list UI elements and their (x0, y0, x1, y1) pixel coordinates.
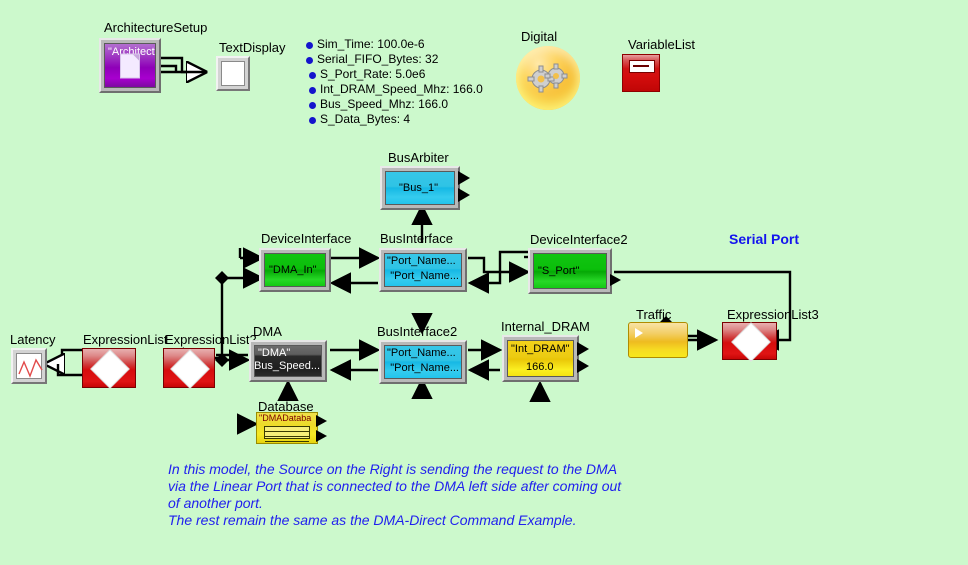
diamond-icon (731, 322, 771, 362)
block-device-interface[interactable]: "DMA_In" (259, 248, 331, 292)
block-internal-dram[interactable]: "Int_DRAM" 166.0 (502, 335, 579, 382)
architecture-setup-label: ArchitectureSetup (104, 21, 207, 35)
note-line-4: The rest remain the same as the DMA-Dire… (168, 512, 576, 528)
text-display-label: TextDisplay (219, 41, 285, 55)
waveform-icon (17, 354, 45, 382)
param-s-port-rate: S_Port_Rate: 5.0e6 (320, 67, 425, 81)
latency-label: Latency (10, 333, 56, 347)
table-grid-icon (264, 426, 310, 439)
bus-arbiter-value: "Bus_1" (399, 182, 438, 194)
block-variable-list[interactable] (622, 54, 660, 92)
text-display-screen (221, 61, 245, 86)
note-line-1: In this model, the Source on the Right i… (168, 461, 617, 477)
variable-list-label: VariableList (628, 38, 695, 52)
block-traffic[interactable] (628, 322, 688, 358)
digital-label: Digital (521, 30, 557, 44)
bus-interface-value-top: "Port_Name... (387, 255, 456, 267)
param-bullet-icon (309, 72, 316, 79)
block-database[interactable]: "DMADataba (256, 412, 318, 444)
internal-dram-body: "Int_DRAM" 166.0 (507, 340, 574, 377)
param-int-dram-speed: Int_DRAM_Speed_Mhz: 166.0 (320, 82, 483, 96)
expression-list2-label: ExpressionList2 (165, 333, 257, 347)
serial-port-label: Serial Port (729, 231, 799, 247)
bus-arbiter-body: "Bus_1" (385, 171, 455, 205)
note-line-2: via the Linear Port that is connected to… (168, 478, 621, 494)
bus-interface2-value-bottom: "Port_Name... (390, 362, 459, 374)
block-device-interface2[interactable]: "S_Port" (528, 248, 612, 294)
note-line-3: of another port. (168, 495, 263, 511)
bus-interface2-value-top: "Port_Name... (387, 347, 456, 359)
diamond-icon (90, 349, 130, 389)
param-bullet-icon (306, 57, 313, 64)
device-interface2-value: "S_Port" (538, 265, 579, 277)
device-interface-body: "DMA_In" (264, 253, 326, 287)
block-bus-interface2[interactable]: "Port_Name... "Port_Name... (379, 340, 467, 384)
block-text-display[interactable] (216, 56, 250, 91)
block-expression-list2[interactable] (163, 348, 215, 388)
database-ports (316, 412, 330, 446)
dma-value-bottom: "Bus_Speed... (254, 360, 320, 372)
database-value: "DMADataba (259, 413, 311, 423)
bus-interface2-label: BusInterface2 (377, 325, 457, 339)
diamond-icon (170, 349, 210, 389)
block-digital[interactable] (516, 46, 580, 110)
device-interface2-body: "S_Port" (533, 253, 607, 289)
traffic-label: Traffic (636, 308, 671, 322)
block-dma[interactable]: "DMA" "Bus_Speed... (249, 340, 327, 382)
list-bar-icon (629, 60, 655, 73)
internal-dram-value-bottom: 166.0 (526, 361, 554, 373)
internal-dram-label: Internal_DRAM (501, 320, 590, 334)
block-expression-list3[interactable] (722, 322, 777, 360)
block-expression-list[interactable] (82, 348, 136, 388)
architecture-setup-body: "Architectu... (104, 43, 156, 88)
expression-list-label: ExpressionList (83, 333, 168, 347)
dma-body: "DMA" "Bus_Speed... (254, 345, 322, 377)
internal-dram-ports (577, 337, 593, 383)
latency-plot (16, 353, 42, 379)
bus-interface-label: BusInterface (380, 232, 453, 246)
bus-interface2-body: "Port_Name... "Port_Name... (384, 345, 462, 379)
gears-icon (516, 46, 580, 110)
bus-interface-body: "Port_Name... "Port_Name... (384, 253, 462, 287)
dma-label: DMA (253, 325, 282, 339)
param-bullet-icon (306, 42, 313, 49)
block-bus-interface[interactable]: "Port_Name... "Port_Name... (379, 248, 467, 292)
device-interface-label: DeviceInterface (261, 232, 351, 246)
play-icon (635, 328, 643, 338)
device-interface2-label: DeviceInterface2 (530, 233, 628, 247)
internal-dram-value-top: "Int_DRAM" (511, 343, 570, 355)
param-bullet-icon (309, 102, 316, 109)
bus-arbiter-label: BusArbiter (388, 151, 449, 165)
param-serial-fifo-bytes: Serial_FIFO_Bytes: 32 (317, 52, 438, 66)
block-latency[interactable] (11, 348, 47, 384)
param-s-data-bytes: S_Data_Bytes: 4 (320, 112, 410, 126)
param-sim-time: Sim_Time: 100.0e-6 (317, 37, 425, 51)
block-architecture-setup[interactable]: "Architectu... (99, 38, 161, 93)
dma-value-top: "DMA" (258, 347, 290, 359)
param-bus-speed: Bus_Speed_Mhz: 166.0 (320, 97, 448, 111)
param-bullet-icon (309, 87, 316, 94)
document-icon (120, 54, 140, 79)
expression-list3-label: ExpressionList3 (727, 308, 819, 322)
bus-interface-value-bottom: "Port_Name... (390, 270, 459, 282)
model-note: In this model, the Source on the Right i… (168, 461, 621, 529)
device-interface-value: "DMA_In" (269, 264, 317, 276)
bus-arbiter-ports (458, 168, 474, 210)
device-interface2-port (610, 250, 624, 294)
param-bullet-icon (309, 117, 316, 124)
block-bus-arbiter[interactable]: "Bus_1" (380, 166, 460, 210)
